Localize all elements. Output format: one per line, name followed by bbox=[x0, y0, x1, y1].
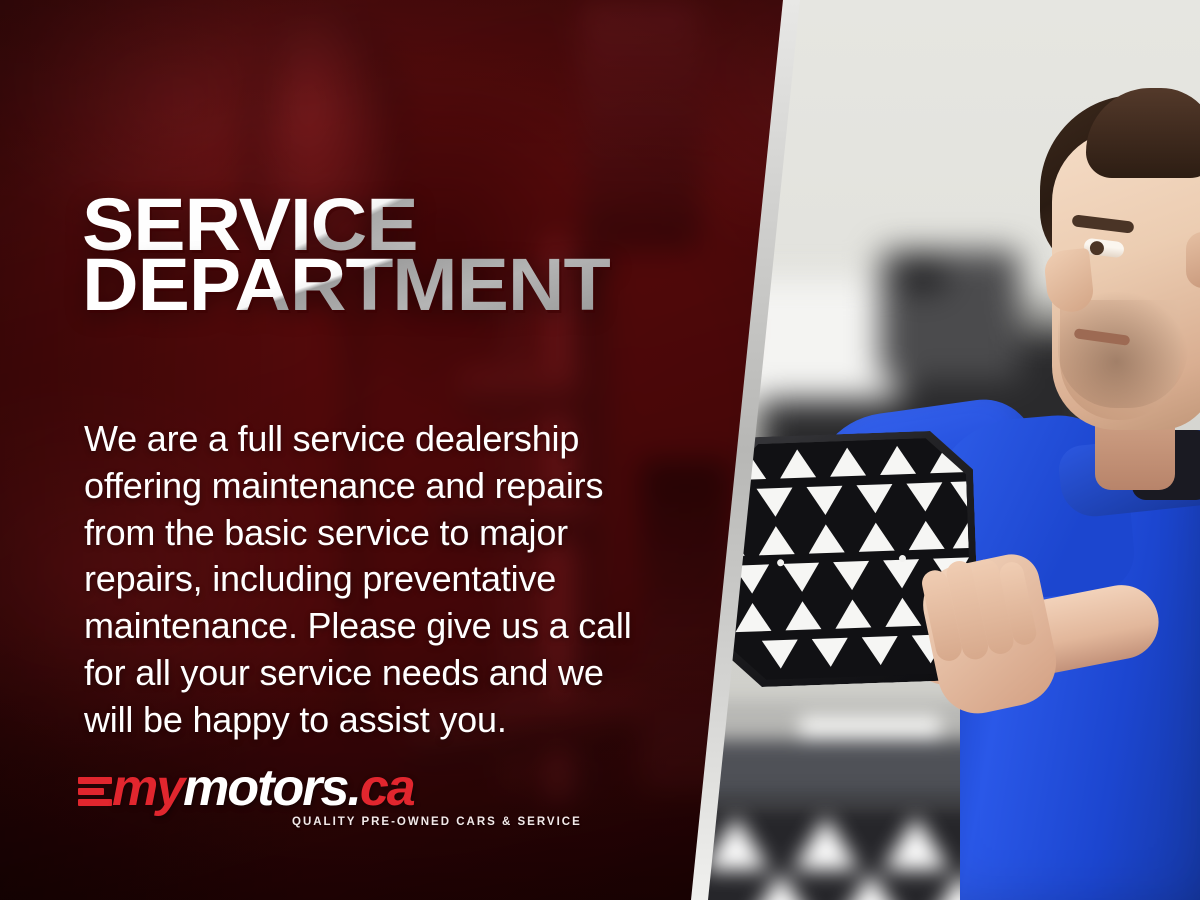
logo-wordmark: mymotors.ca bbox=[112, 762, 414, 814]
mymotors-logo[interactable]: mymotors.ca QUALITY PRE-OWNED CARS & SER… bbox=[78, 762, 518, 846]
mechanic-nose bbox=[1043, 248, 1095, 314]
headline-line-2: DEPARTMENT bbox=[82, 256, 610, 314]
mechanic-ear bbox=[1186, 232, 1200, 288]
banner-content: SERVICE DEPARTMENT We are a full service… bbox=[0, 0, 700, 900]
speed-lines-icon bbox=[78, 774, 112, 810]
logo-motors: motors. bbox=[183, 759, 360, 817]
body-copy: We are a full service dealership offerin… bbox=[84, 416, 644, 744]
service-department-banner: SERVICE DEPARTMENT We are a full service… bbox=[0, 0, 1200, 900]
logo-my: my bbox=[112, 759, 183, 817]
mechanic-pupil bbox=[1089, 240, 1105, 256]
logo-ca: ca bbox=[360, 759, 414, 817]
logo-tagline: QUALITY PRE-OWNED CARS & SERVICE bbox=[292, 816, 582, 828]
page-title: SERVICE DEPARTMENT bbox=[82, 196, 610, 313]
